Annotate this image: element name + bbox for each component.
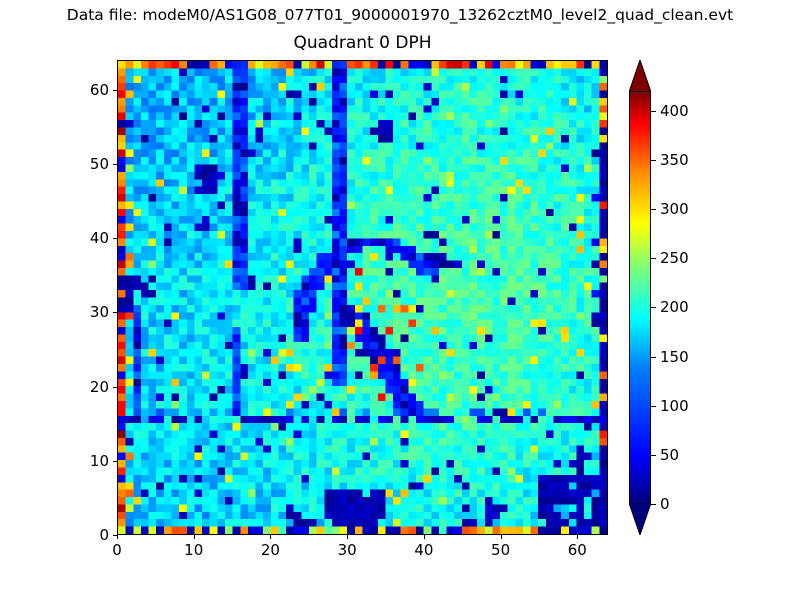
colorbar-tick-label: 200 [660,299,689,315]
data-file-label: Data file: modeM0/AS1G08_077T01_90000019… [0,5,800,25]
x-tick-mark [347,535,348,539]
x-tick-label: 10 [184,542,203,558]
y-tick-mark [113,535,117,536]
x-tick-label: 40 [414,542,433,558]
colorbar-tick-label: 100 [660,398,689,414]
y-tick-mark [113,461,117,462]
y-tick-label: 40 [59,230,109,246]
y-tick-label: 60 [59,82,109,98]
x-tick-label: 30 [338,542,357,558]
colorbar-tick-label: 300 [660,201,689,217]
heatmap-axes[interactable] [117,60,608,535]
y-tick-label: 10 [59,453,109,469]
colorbar-tick-label: 50 [660,447,679,463]
x-tick-label: 20 [261,542,280,558]
colorbar-gradient [629,91,651,504]
colorbar-tick-label: 0 [660,496,670,512]
colorbar-tick-label: 150 [660,349,689,365]
colorbar-tick-mark [651,209,656,210]
colorbar-tick-mark [651,504,656,505]
x-tick-mark [117,535,118,539]
y-tick-label: 50 [59,156,109,172]
colorbar-tick-mark [651,258,656,259]
colorbar-tick-mark [651,111,656,112]
x-tick-label: 0 [112,542,122,558]
y-tick-mark [113,164,117,165]
y-tick-mark [113,90,117,91]
colorbar-tick-mark [651,307,656,308]
colorbar-extend-max-arrow [629,60,651,92]
x-tick-label: 50 [491,542,510,558]
y-tick-mark [113,312,117,313]
colorbar[interactable] [629,60,651,535]
y-tick-label: 20 [59,379,109,395]
x-tick-mark [270,535,271,539]
plot-title: Quadrant 0 DPH [117,32,608,54]
colorbar-tick-label: 350 [660,152,689,168]
x-tick-mark [501,535,502,539]
colorbar-tick-label: 250 [660,250,689,266]
colorbar-tick-mark [651,357,656,358]
y-tick-mark [113,387,117,388]
colorbar-extend-min-arrow [629,503,651,535]
x-tick-label: 60 [568,542,587,558]
y-tick-mark [113,238,117,239]
x-tick-mark [577,535,578,539]
colorbar-tick-mark [651,160,656,161]
y-tick-label: 30 [59,304,109,320]
colorbar-tick-mark [651,455,656,456]
colorbar-tick-label: 400 [660,103,689,119]
x-tick-mark [424,535,425,539]
figure-canvas: Data file: modeM0/AS1G08_077T01_90000019… [0,0,800,600]
y-tick-label: 0 [59,527,109,543]
x-tick-mark [194,535,195,539]
dph-heatmap-image[interactable] [118,61,607,534]
colorbar-tick-mark [651,406,656,407]
